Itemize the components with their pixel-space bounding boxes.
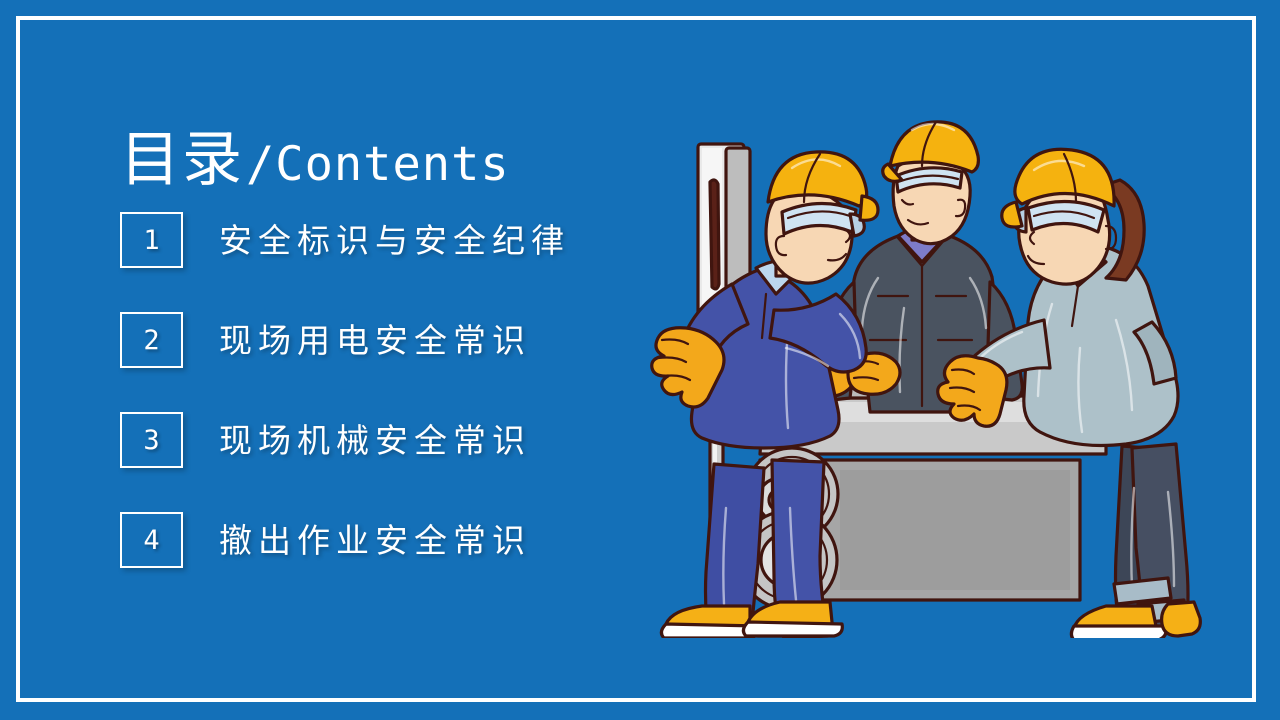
contents-number-box-3: 3 [120, 412, 183, 468]
contents-number-2: 2 [143, 327, 159, 354]
contents-item-2[interactable]: 2 现场用电安全常识 [120, 312, 660, 368]
contents-label-3: 现场机械安全常识 [219, 424, 531, 457]
page-title-cn: 目录 [120, 130, 244, 190]
contents-number-box-4: 4 [120, 512, 183, 568]
right-worker-shoes [1071, 602, 1200, 638]
contents-number-box-2: 2 [120, 312, 183, 368]
contents-label-4: 撤出作业安全常识 [219, 524, 531, 557]
contents-label-1: 安全标识与安全纪律 [219, 224, 570, 257]
contents-item-4[interactable]: 4 撤出作业安全常识 [120, 512, 660, 568]
page-title: 目录 /Contents [120, 130, 660, 190]
page-title-en: /Contents [246, 141, 510, 188]
contents-number-4: 4 [143, 527, 159, 554]
three-safety-workers-illustration: .ol { stroke:#40150f; stroke-width:3.2; … [640, 108, 1260, 638]
contents-list: 1 安全标识与安全纪律 2 现场用电安全常识 3 现场机械安全常识 4 [120, 212, 660, 568]
contents-label-2: 现场用电安全常识 [219, 324, 531, 357]
contents-number-1: 1 [143, 227, 159, 254]
contents-number-3: 3 [143, 427, 159, 454]
contents-column: 目录 /Contents 1 安全标识与安全纪律 2 现场用电安全常识 3 [120, 130, 660, 612]
contents-item-3[interactable]: 3 现场机械安全常识 [120, 412, 660, 468]
presentation-slide: 目录 /Contents 1 安全标识与安全纪律 2 现场用电安全常识 3 [0, 0, 1280, 720]
contents-item-1[interactable]: 1 安全标识与安全纪律 [120, 212, 660, 268]
contents-number-box-1: 1 [120, 212, 183, 268]
